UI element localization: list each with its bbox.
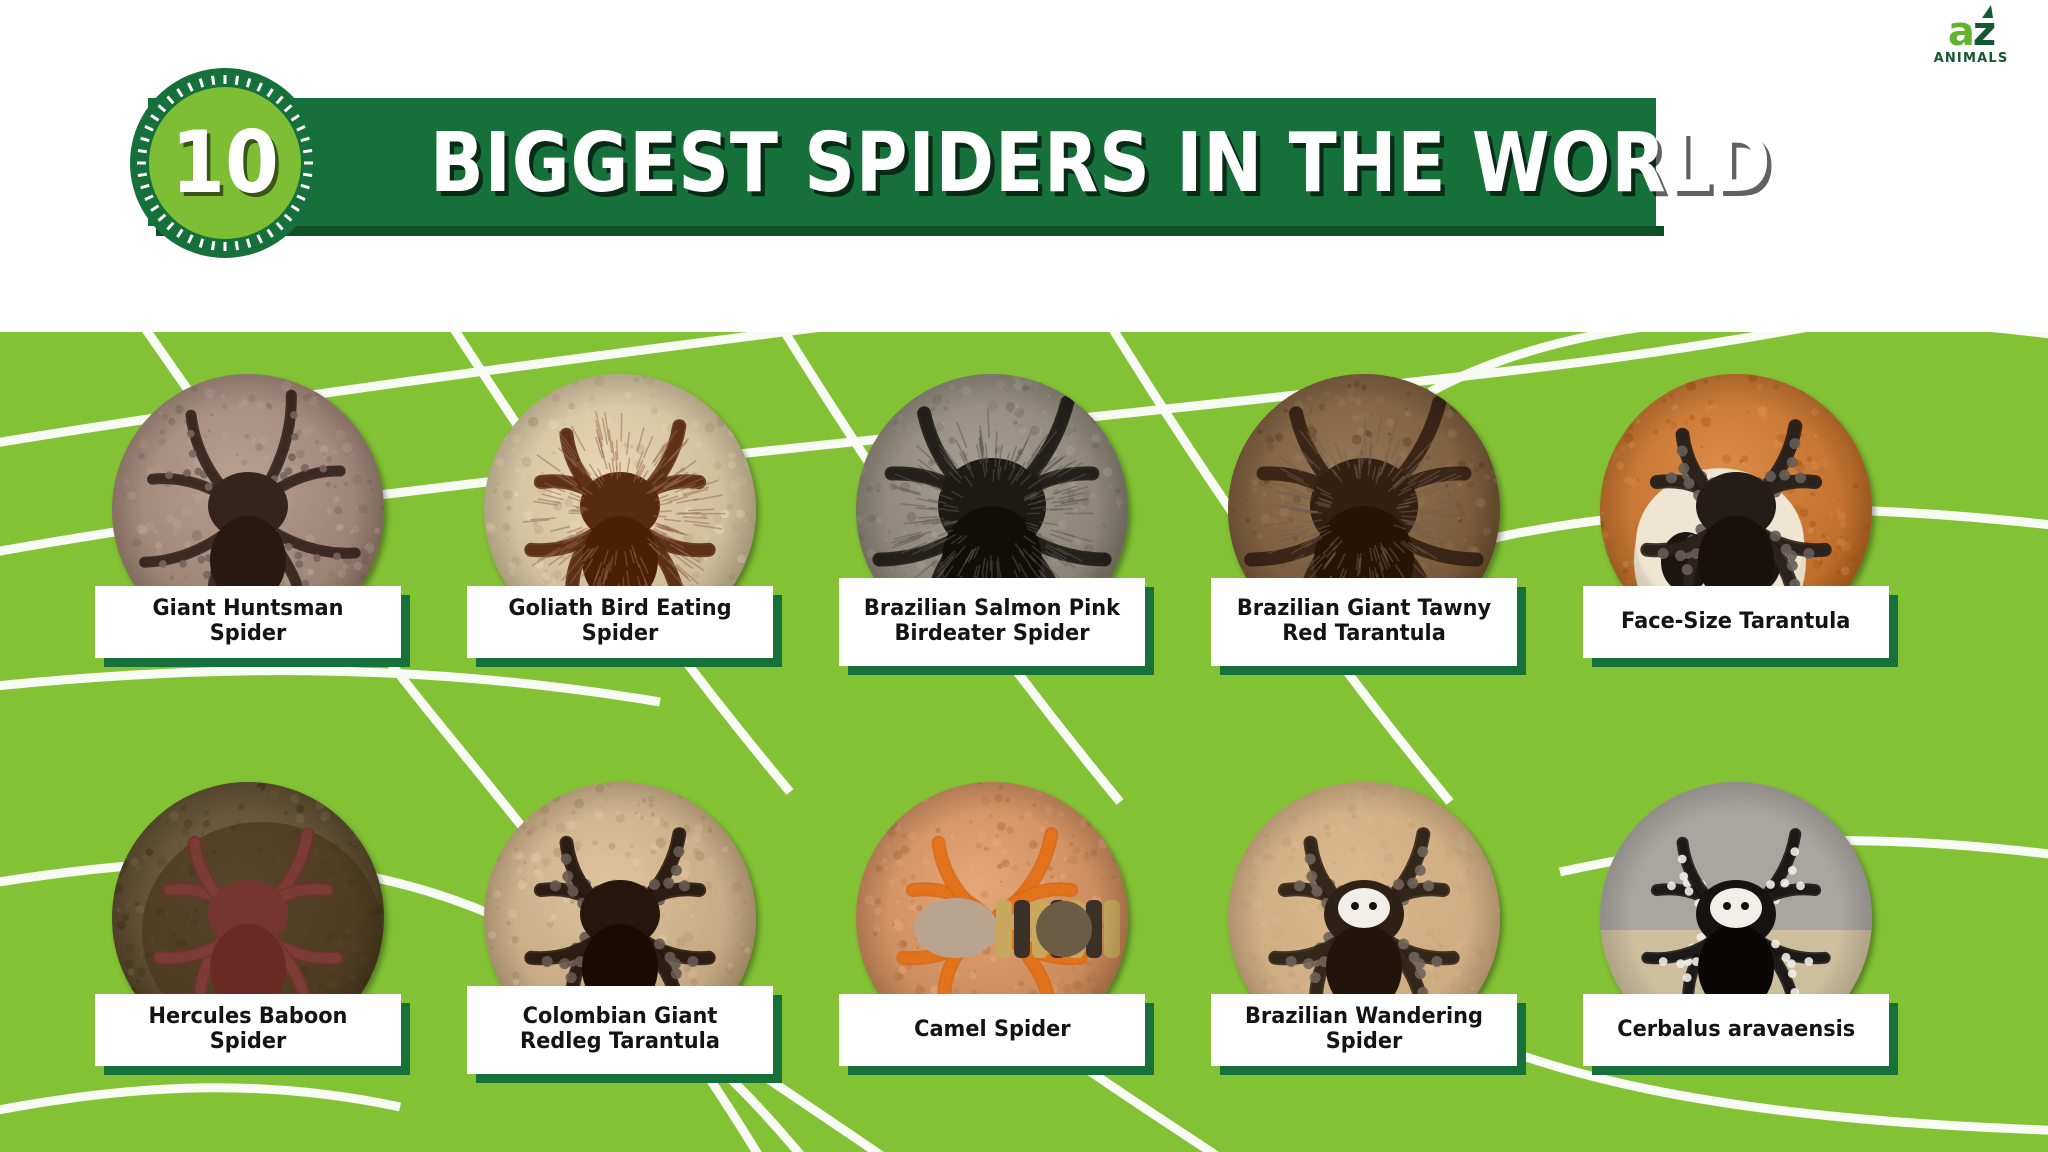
spider-name-text: Cerbalus aravaensis bbox=[1617, 1018, 1855, 1043]
spider-row-2: Hercules Baboon SpiderColombian Giant Re… bbox=[0, 782, 2048, 1152]
spider-name-text: Brazilian Wandering Spider bbox=[1228, 1005, 1500, 1054]
spider-name-label: Camel Spider bbox=[839, 994, 1145, 1066]
spider-card[interactable]: Colombian Giant Redleg Tarantula bbox=[430, 782, 810, 1152]
page-title: BIGGEST SPIDERS IN THE WORLD bbox=[430, 104, 1488, 222]
spider-name-label: Brazilian Salmon Pink Birdeater Spider bbox=[839, 578, 1145, 666]
az-animals-logo[interactable]: az ANIMALS bbox=[1916, 10, 2026, 70]
spider-name-text: Brazilian Giant Tawny Red Tarantula bbox=[1228, 597, 1500, 646]
spider-name-text: Goliath Bird Eating Spider bbox=[484, 597, 756, 646]
banner-shadow bbox=[156, 226, 1664, 236]
spider-name-label: Goliath Bird Eating Spider bbox=[467, 586, 773, 658]
content-field: Giant Huntsman SpiderGoliath Bird Eating… bbox=[0, 332, 2048, 1152]
badge-number: 10 bbox=[140, 68, 311, 258]
infographic-page: az ANIMALS BIGGEST SPIDERS IN THE WORLD … bbox=[0, 0, 2048, 1152]
spider-card[interactable]: Face-Size Tarantula bbox=[1546, 374, 1926, 774]
logo-wordmark: az bbox=[1948, 14, 1994, 50]
logo-letter-a: a bbox=[1948, 14, 1973, 50]
logo-letter-z: z bbox=[1973, 14, 1994, 50]
spider-name-text: Hercules Baboon Spider bbox=[112, 1005, 384, 1054]
spider-name-text: Brazilian Salmon Pink Birdeater Spider bbox=[856, 597, 1128, 646]
logo-name: ANIMALS bbox=[1934, 51, 2009, 66]
spider-card[interactable]: Brazilian Giant Tawny Red Tarantula bbox=[1174, 374, 1554, 774]
spider-name-label: Cerbalus aravaensis bbox=[1583, 994, 1889, 1066]
spider-name-text: Camel Spider bbox=[914, 1018, 1070, 1043]
spider-name-label: Brazilian Wandering Spider bbox=[1211, 994, 1517, 1066]
spider-card[interactable]: Camel Spider bbox=[802, 782, 1182, 1152]
spider-card[interactable]: Goliath Bird Eating Spider bbox=[430, 374, 810, 774]
spider-name-text: Colombian Giant Redleg Tarantula bbox=[484, 1005, 756, 1054]
spider-card[interactable]: Brazilian Salmon Pink Birdeater Spider bbox=[802, 374, 1182, 774]
spider-name-label: Giant Huntsman Spider bbox=[95, 586, 401, 658]
spider-name-text: Giant Huntsman Spider bbox=[112, 597, 384, 646]
spider-card[interactable]: Brazilian Wandering Spider bbox=[1174, 782, 1554, 1152]
spider-name-label: Brazilian Giant Tawny Red Tarantula bbox=[1211, 578, 1517, 666]
spider-name-label: Face-Size Tarantula bbox=[1583, 586, 1889, 658]
spider-card[interactable]: Hercules Baboon Spider bbox=[58, 782, 438, 1152]
spider-card[interactable]: Giant Huntsman Spider bbox=[58, 374, 438, 774]
spider-row-1: Giant Huntsman SpiderGoliath Bird Eating… bbox=[0, 374, 2048, 774]
spider-name-text: Face-Size Tarantula bbox=[1621, 610, 1850, 635]
spider-name-label: Hercules Baboon Spider bbox=[95, 994, 401, 1066]
spider-name-label: Colombian Giant Redleg Tarantula bbox=[467, 986, 773, 1074]
spider-card[interactable]: Cerbalus aravaensis bbox=[1546, 782, 1926, 1152]
number-badge: 10 bbox=[130, 68, 320, 258]
